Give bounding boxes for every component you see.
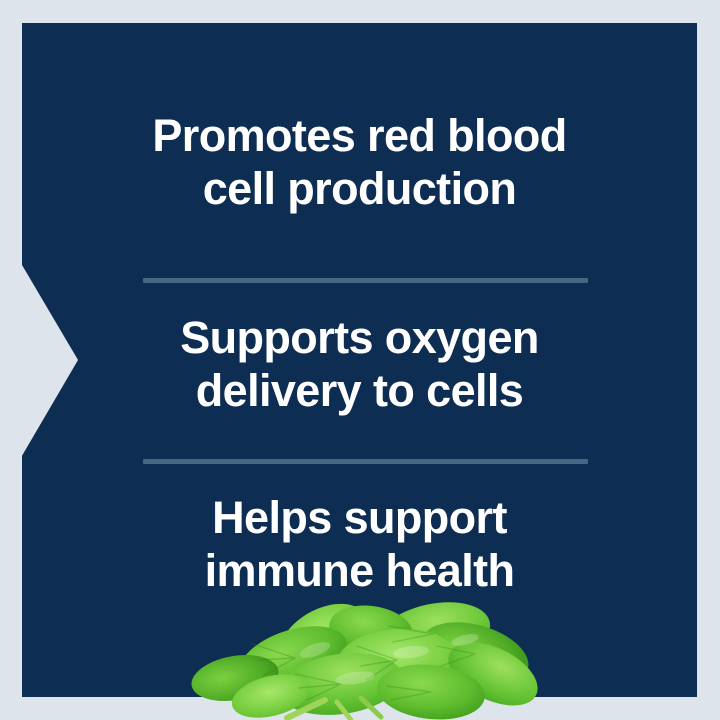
- benefit-2-line-2: delivery to cells: [22, 364, 697, 417]
- benefits-graphic: Promotes red blood cell production Suppo…: [0, 0, 720, 720]
- benefit-3-line-1: Helps support: [22, 491, 697, 544]
- benefit-3-line-2: immune health: [22, 544, 697, 597]
- benefit-1-line-2: cell production: [22, 162, 697, 215]
- divider-2: [143, 459, 588, 464]
- divider-1: [143, 278, 588, 283]
- benefits-content: Promotes red blood cell production Suppo…: [22, 23, 697, 697]
- benefit-1-line-1: Promotes red blood: [22, 109, 697, 162]
- benefit-item-2: Supports oxygen delivery to cells: [22, 311, 697, 417]
- bottom-shelf: [0, 697, 720, 720]
- benefit-item-3: Helps support immune health: [22, 491, 697, 597]
- benefit-item-1: Promotes red blood cell production: [22, 109, 697, 215]
- benefit-2-line-1: Supports oxygen: [22, 311, 697, 364]
